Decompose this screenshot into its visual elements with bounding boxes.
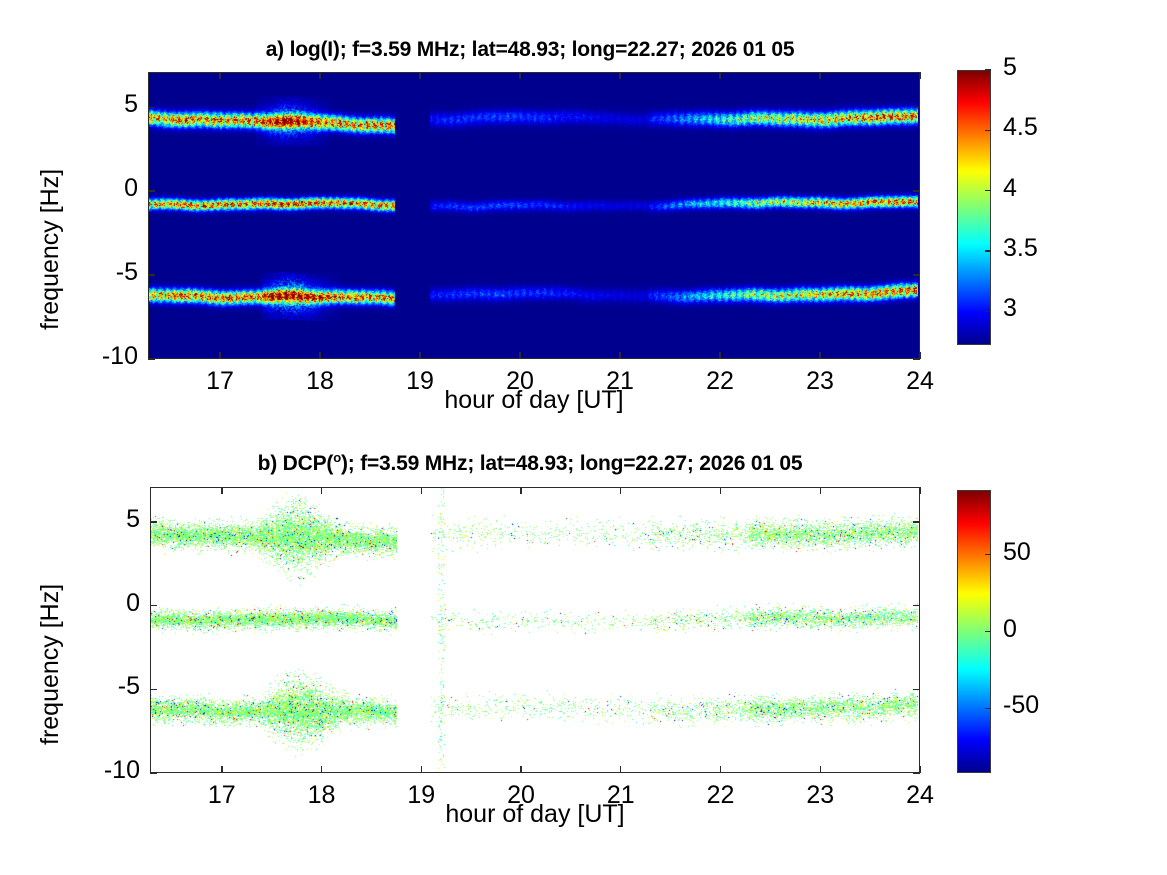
ytick--10 — [148, 358, 155, 359]
ytick-5 — [150, 521, 157, 522]
xtick-top-19 — [421, 487, 422, 494]
xtick-top-23 — [820, 487, 821, 494]
xtick-top-18 — [321, 487, 322, 494]
ytick-right--10 — [913, 358, 920, 359]
xtick-top-17 — [219, 72, 220, 79]
xtick-20 — [519, 352, 520, 359]
xtick-23 — [820, 766, 821, 773]
ytick-right-5 — [913, 107, 920, 108]
panel-a-xlabel: hour of day [UT] — [148, 386, 920, 415]
colorbar-tick-3 — [985, 311, 991, 312]
ytick-label--5: -5 — [68, 258, 138, 287]
colorbar-tick--50 — [985, 708, 991, 709]
colorbar-label-0: 0 — [1003, 615, 1017, 644]
xtick-top-24 — [919, 487, 920, 494]
panel-a-spectrogram — [149, 73, 918, 357]
panel-b-xlabel: hour of day [UT] — [150, 800, 920, 829]
xtick-17 — [219, 352, 220, 359]
panel-a-colorbar — [957, 70, 991, 345]
xtick-top-22 — [719, 72, 720, 79]
colorbar-tick-4 — [985, 190, 991, 191]
ytick--5 — [150, 689, 157, 690]
panel-b-dcp-map — [151, 488, 918, 771]
colorbar-label--50: -50 — [1003, 691, 1039, 720]
ytick-label-0: 0 — [68, 174, 138, 203]
ytick-label-5: 5 — [68, 90, 138, 119]
panel-b-axes — [150, 487, 920, 773]
xtick-19 — [421, 766, 422, 773]
ytick-right-0 — [913, 190, 920, 191]
panel-a-title: a) log(I); f=3.59 MHz; lat=48.93; long=2… — [0, 38, 1060, 62]
xtick-top-17 — [221, 487, 222, 494]
xtick-top-23 — [819, 72, 820, 79]
colorbar-tick-5 — [985, 69, 991, 70]
xtick-18 — [321, 766, 322, 773]
colorbar-tick-0 — [985, 631, 991, 632]
panel-a-ylabel: frequency [Hz] — [36, 169, 65, 330]
ytick-label--5: -5 — [70, 672, 140, 701]
ytick-0 — [148, 190, 155, 191]
colorbar-tick-50 — [985, 554, 991, 555]
xtick-22 — [719, 352, 720, 359]
xtick-top-20 — [519, 72, 520, 79]
ytick-right-0 — [913, 605, 920, 606]
colorbar-tick-3.5 — [985, 250, 991, 251]
xtick-20 — [520, 766, 521, 773]
xtick-top-22 — [720, 487, 721, 494]
xtick-top-20 — [520, 487, 521, 494]
xtick-top-19 — [419, 72, 420, 79]
colorbar-label-50: 50 — [1003, 538, 1031, 567]
xtick-21 — [620, 766, 621, 773]
colorbar-label-3: 3 — [1003, 294, 1017, 323]
panel-b-title: b) DCP(o); f=3.59 MHz; lat=48.93; long=2… — [0, 450, 1060, 476]
ytick--5 — [148, 274, 155, 275]
xtick-21 — [619, 352, 620, 359]
ytick-5 — [148, 107, 155, 108]
ytick-right-5 — [913, 521, 920, 522]
colorbar-label-5: 5 — [1003, 53, 1017, 82]
ytick-label-0: 0 — [70, 589, 140, 618]
xtick-17 — [221, 766, 222, 773]
ytick-label-5: 5 — [70, 505, 140, 534]
xtick-top-24 — [919, 72, 920, 79]
ytick--10 — [150, 772, 157, 773]
xtick-19 — [419, 352, 420, 359]
ytick-label--10: -10 — [68, 342, 138, 371]
ytick-label--10: -10 — [70, 756, 140, 785]
xtick-18 — [319, 352, 320, 359]
colorbar-label-4.5: 4.5 — [1003, 113, 1038, 142]
colorbar-label-3.5: 3.5 — [1003, 234, 1038, 263]
ytick-right--5 — [913, 274, 920, 275]
panel-a-axes — [148, 72, 920, 359]
degree-symbol: o — [333, 450, 341, 465]
xtick-top-18 — [319, 72, 320, 79]
colorbar-label-4: 4 — [1003, 174, 1017, 203]
panel-a-colorbar-gradient — [958, 71, 990, 344]
ytick-right--10 — [913, 772, 920, 773]
ytick-right--5 — [913, 689, 920, 690]
xtick-top-21 — [619, 72, 620, 79]
xtick-top-21 — [620, 487, 621, 494]
ytick-0 — [150, 605, 157, 606]
colorbar-tick-4.5 — [985, 130, 991, 131]
xtick-23 — [819, 352, 820, 359]
xtick-22 — [720, 766, 721, 773]
panel-b-ylabel: frequency [Hz] — [36, 584, 65, 745]
